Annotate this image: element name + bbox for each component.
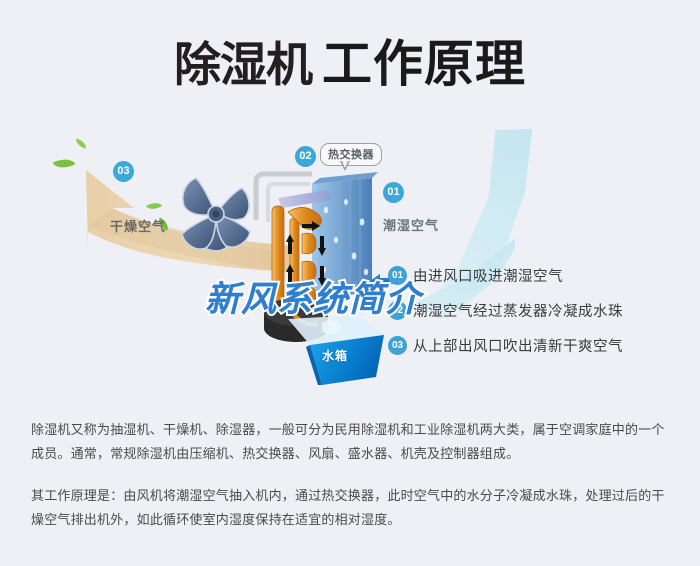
list-item: 01 由进风口吸进潮湿空气 [388, 258, 688, 293]
step-text: 潮湿空气经过蒸发器冷凝成水珠 [413, 300, 623, 321]
description-block: 除湿机又称为抽湿机、干燥机、除湿器，一般可分为民用除湿机和工业除湿机两大类，属于… [31, 418, 676, 532]
description-paragraph-2: 其工作原理是：由风机将潮湿空气抽入机内，通过热交换器，此时空气中的水分子冷凝成水… [31, 484, 676, 532]
diagram-badge-01: 01 [383, 182, 404, 203]
watermark-text-fill: 新风系统简介 [205, 271, 421, 322]
step-text: 从上部出风口吹出清新干爽空气 [413, 335, 623, 356]
process-steps-list: 01 由进风口吸进潮湿空气 02 潮湿空气经过蒸发器冷凝成水珠 03 从上部出风… [388, 258, 688, 363]
callout-tail [340, 161, 350, 171]
step-text: 由进风口吸进潮湿空气 [413, 265, 563, 286]
diagram-badge-02: 02 [295, 146, 316, 167]
page-title-part1: 除湿机 [174, 38, 312, 91]
leaf-icon [74, 138, 88, 148]
water-tank-label: 水箱 [322, 347, 348, 364]
page-title: 除湿机工作原理 [0, 24, 700, 96]
humid-air-label: 潮湿空气 [383, 215, 439, 234]
diagram-badge-03: 03 [113, 161, 134, 182]
step-number-badge: 03 [388, 336, 407, 355]
page-title-part2: 工作原理 [322, 36, 526, 92]
description-paragraph-1: 除湿机又称为抽湿机、干燥机、除湿器，一般可分为民用除湿机和工业除湿机两大类，属于… [31, 418, 676, 466]
list-item: 02 潮湿空气经过蒸发器冷凝成水珠 [388, 293, 688, 328]
heat-exchanger-callout: 热交换器 [320, 143, 382, 166]
list-item: 03 从上部出风口吹出清新干爽空气 [388, 328, 688, 363]
watermark: 新风系统简介 新风系统简介 [205, 271, 421, 322]
dry-air-label: 干燥空气 [110, 216, 166, 235]
